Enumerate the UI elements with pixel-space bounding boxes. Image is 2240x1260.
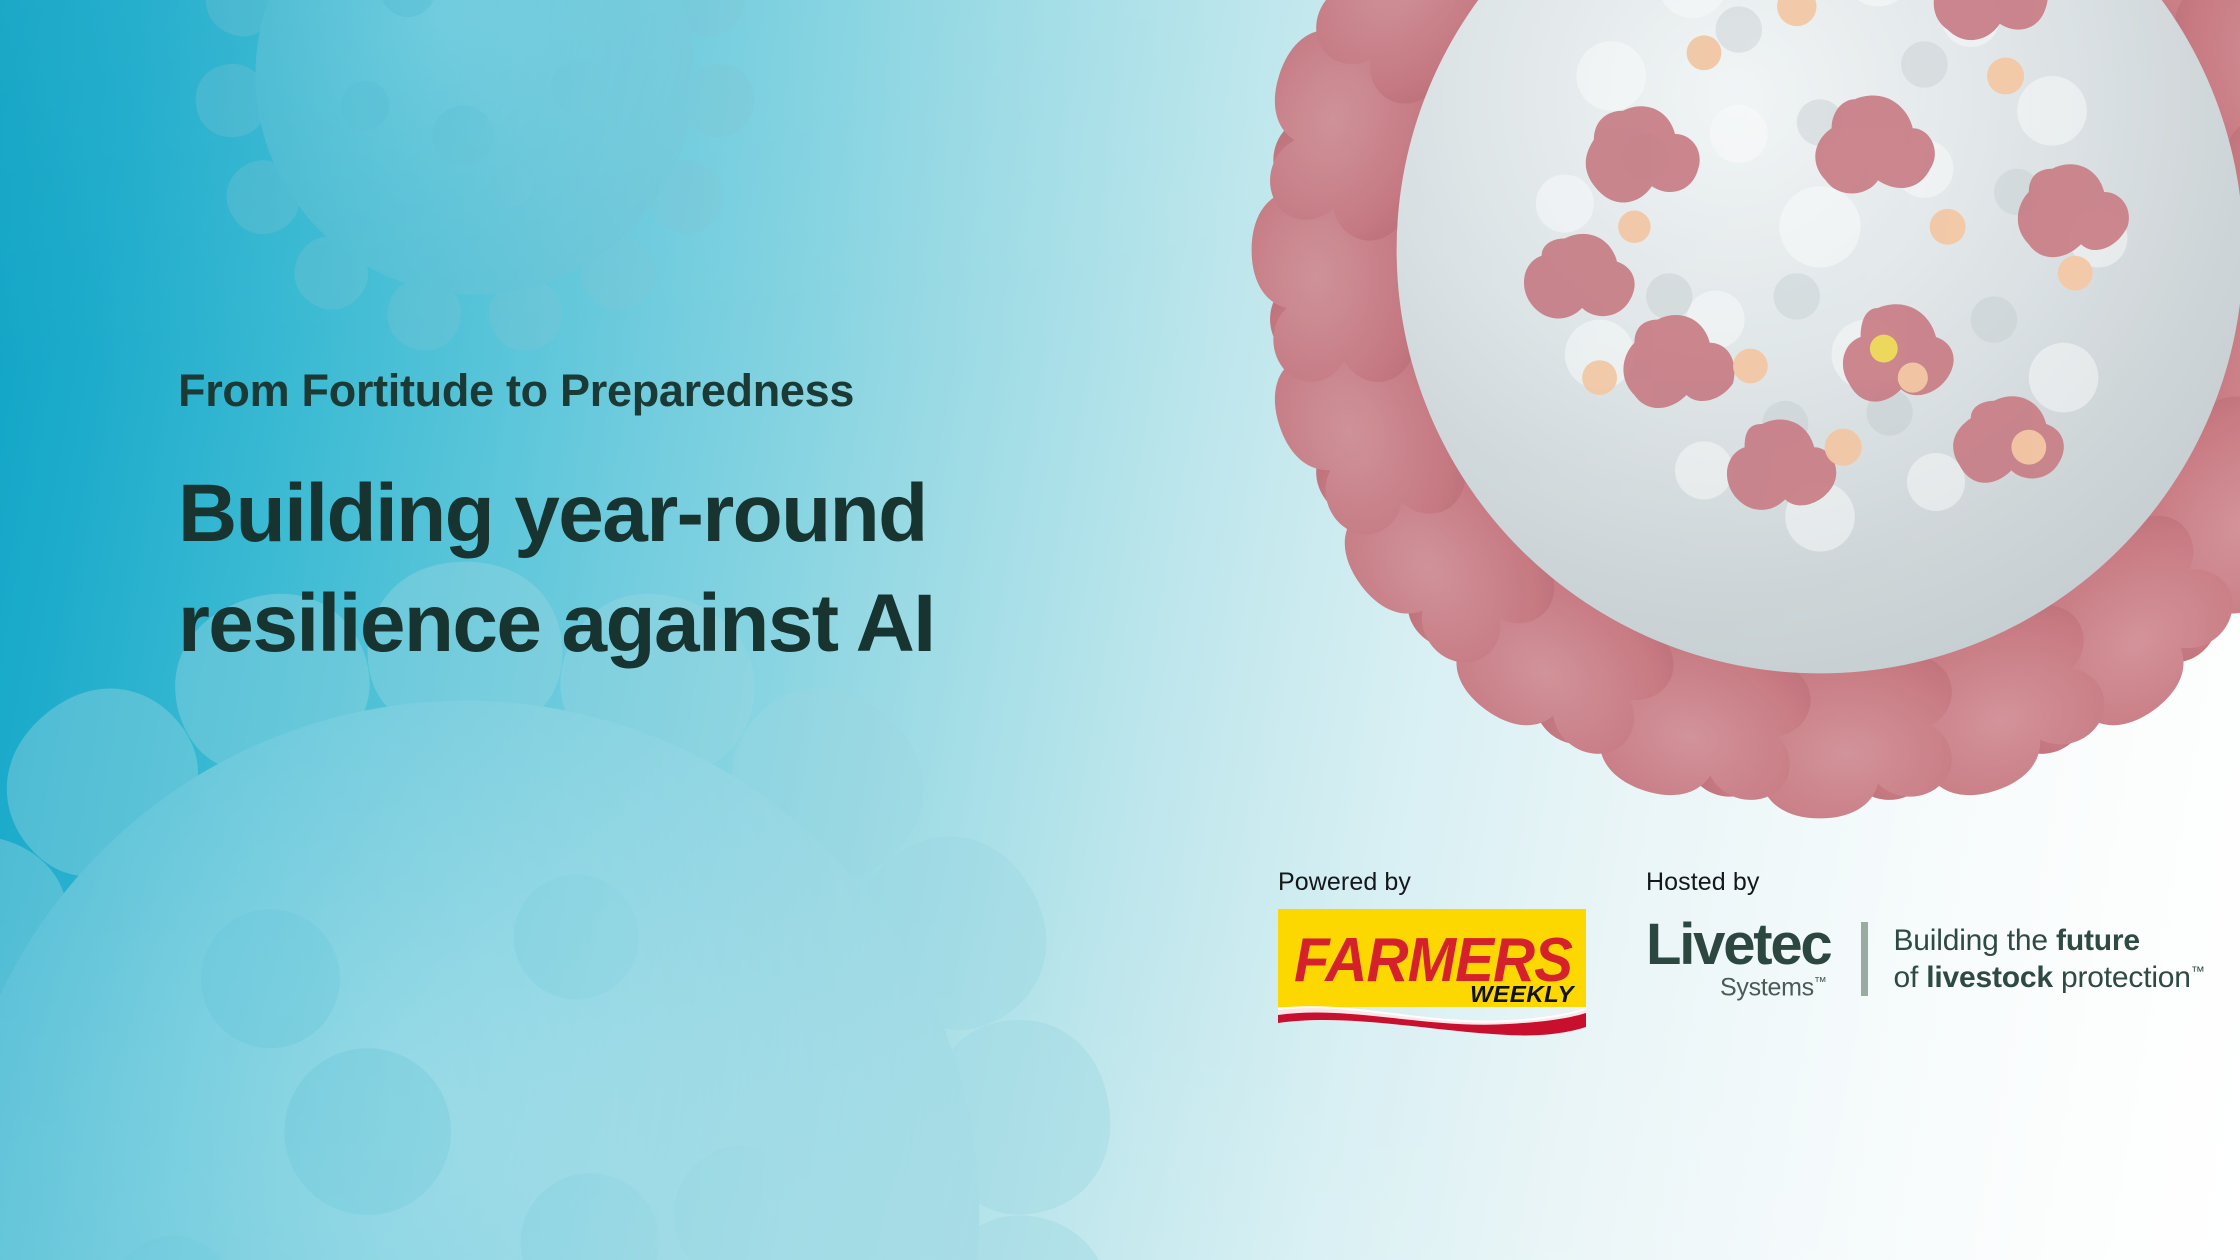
- tagline-line-2-plain-a: of: [1894, 961, 1927, 994]
- tagline-line-2-plain-b: protection: [2053, 961, 2191, 994]
- livetec-tagline: Building the future of livestock protect…: [1894, 922, 2205, 996]
- tagline-line-2-bold: livestock: [1926, 961, 2053, 994]
- farmers-weekly-logo[interactable]: FARMERS WEEKLY: [1278, 909, 1586, 1037]
- headline-line-1: Building year-round: [178, 459, 1298, 569]
- livetec-logo[interactable]: Livetec Systems™ Building the future of …: [1646, 909, 2205, 1009]
- livetec-systems-label: Systems: [1720, 973, 1814, 1001]
- weekly-wordmark: WEEKLY: [1470, 981, 1576, 1007]
- hosted-by-label: Hosted by: [1646, 870, 2205, 895]
- headline-block: From Fortitude to Preparedness Building …: [178, 368, 1298, 679]
- livetec-brand-text: Livetec: [1646, 918, 1831, 973]
- tagline-line-1-bold: future: [2056, 924, 2140, 957]
- powered-by-label: Powered by: [1278, 870, 1586, 895]
- livetec-wordmark: Livetec Systems™: [1646, 918, 1831, 1000]
- page-title: Building year-round resilience against A…: [178, 459, 1298, 679]
- logo-strip: Powered by FARMERS WEEKLY Hosted by Live…: [1278, 870, 2205, 1037]
- livetec-systems-text: Systems™: [1720, 975, 1826, 1000]
- promo-banner: From Fortitude to Preparedness Building …: [0, 0, 2240, 1260]
- powered-by-group: Powered by FARMERS WEEKLY: [1278, 870, 1586, 1037]
- tagline-line-1-plain: Building the: [1894, 924, 2057, 957]
- tagline-line-2: of livestock protection™: [1894, 959, 2205, 996]
- logo-divider: [1861, 922, 1868, 996]
- livetec-tm-icon: ™: [1814, 974, 1827, 989]
- headline-line-2: resilience against AI: [178, 569, 1298, 679]
- tagline-tm-icon: ™: [2191, 963, 2205, 979]
- eyebrow-text: From Fortitude to Preparedness: [178, 368, 1298, 413]
- tagline-line-1: Building the future: [1894, 922, 2205, 959]
- hosted-by-group: Hosted by Livetec Systems™ Building the …: [1646, 870, 2205, 1009]
